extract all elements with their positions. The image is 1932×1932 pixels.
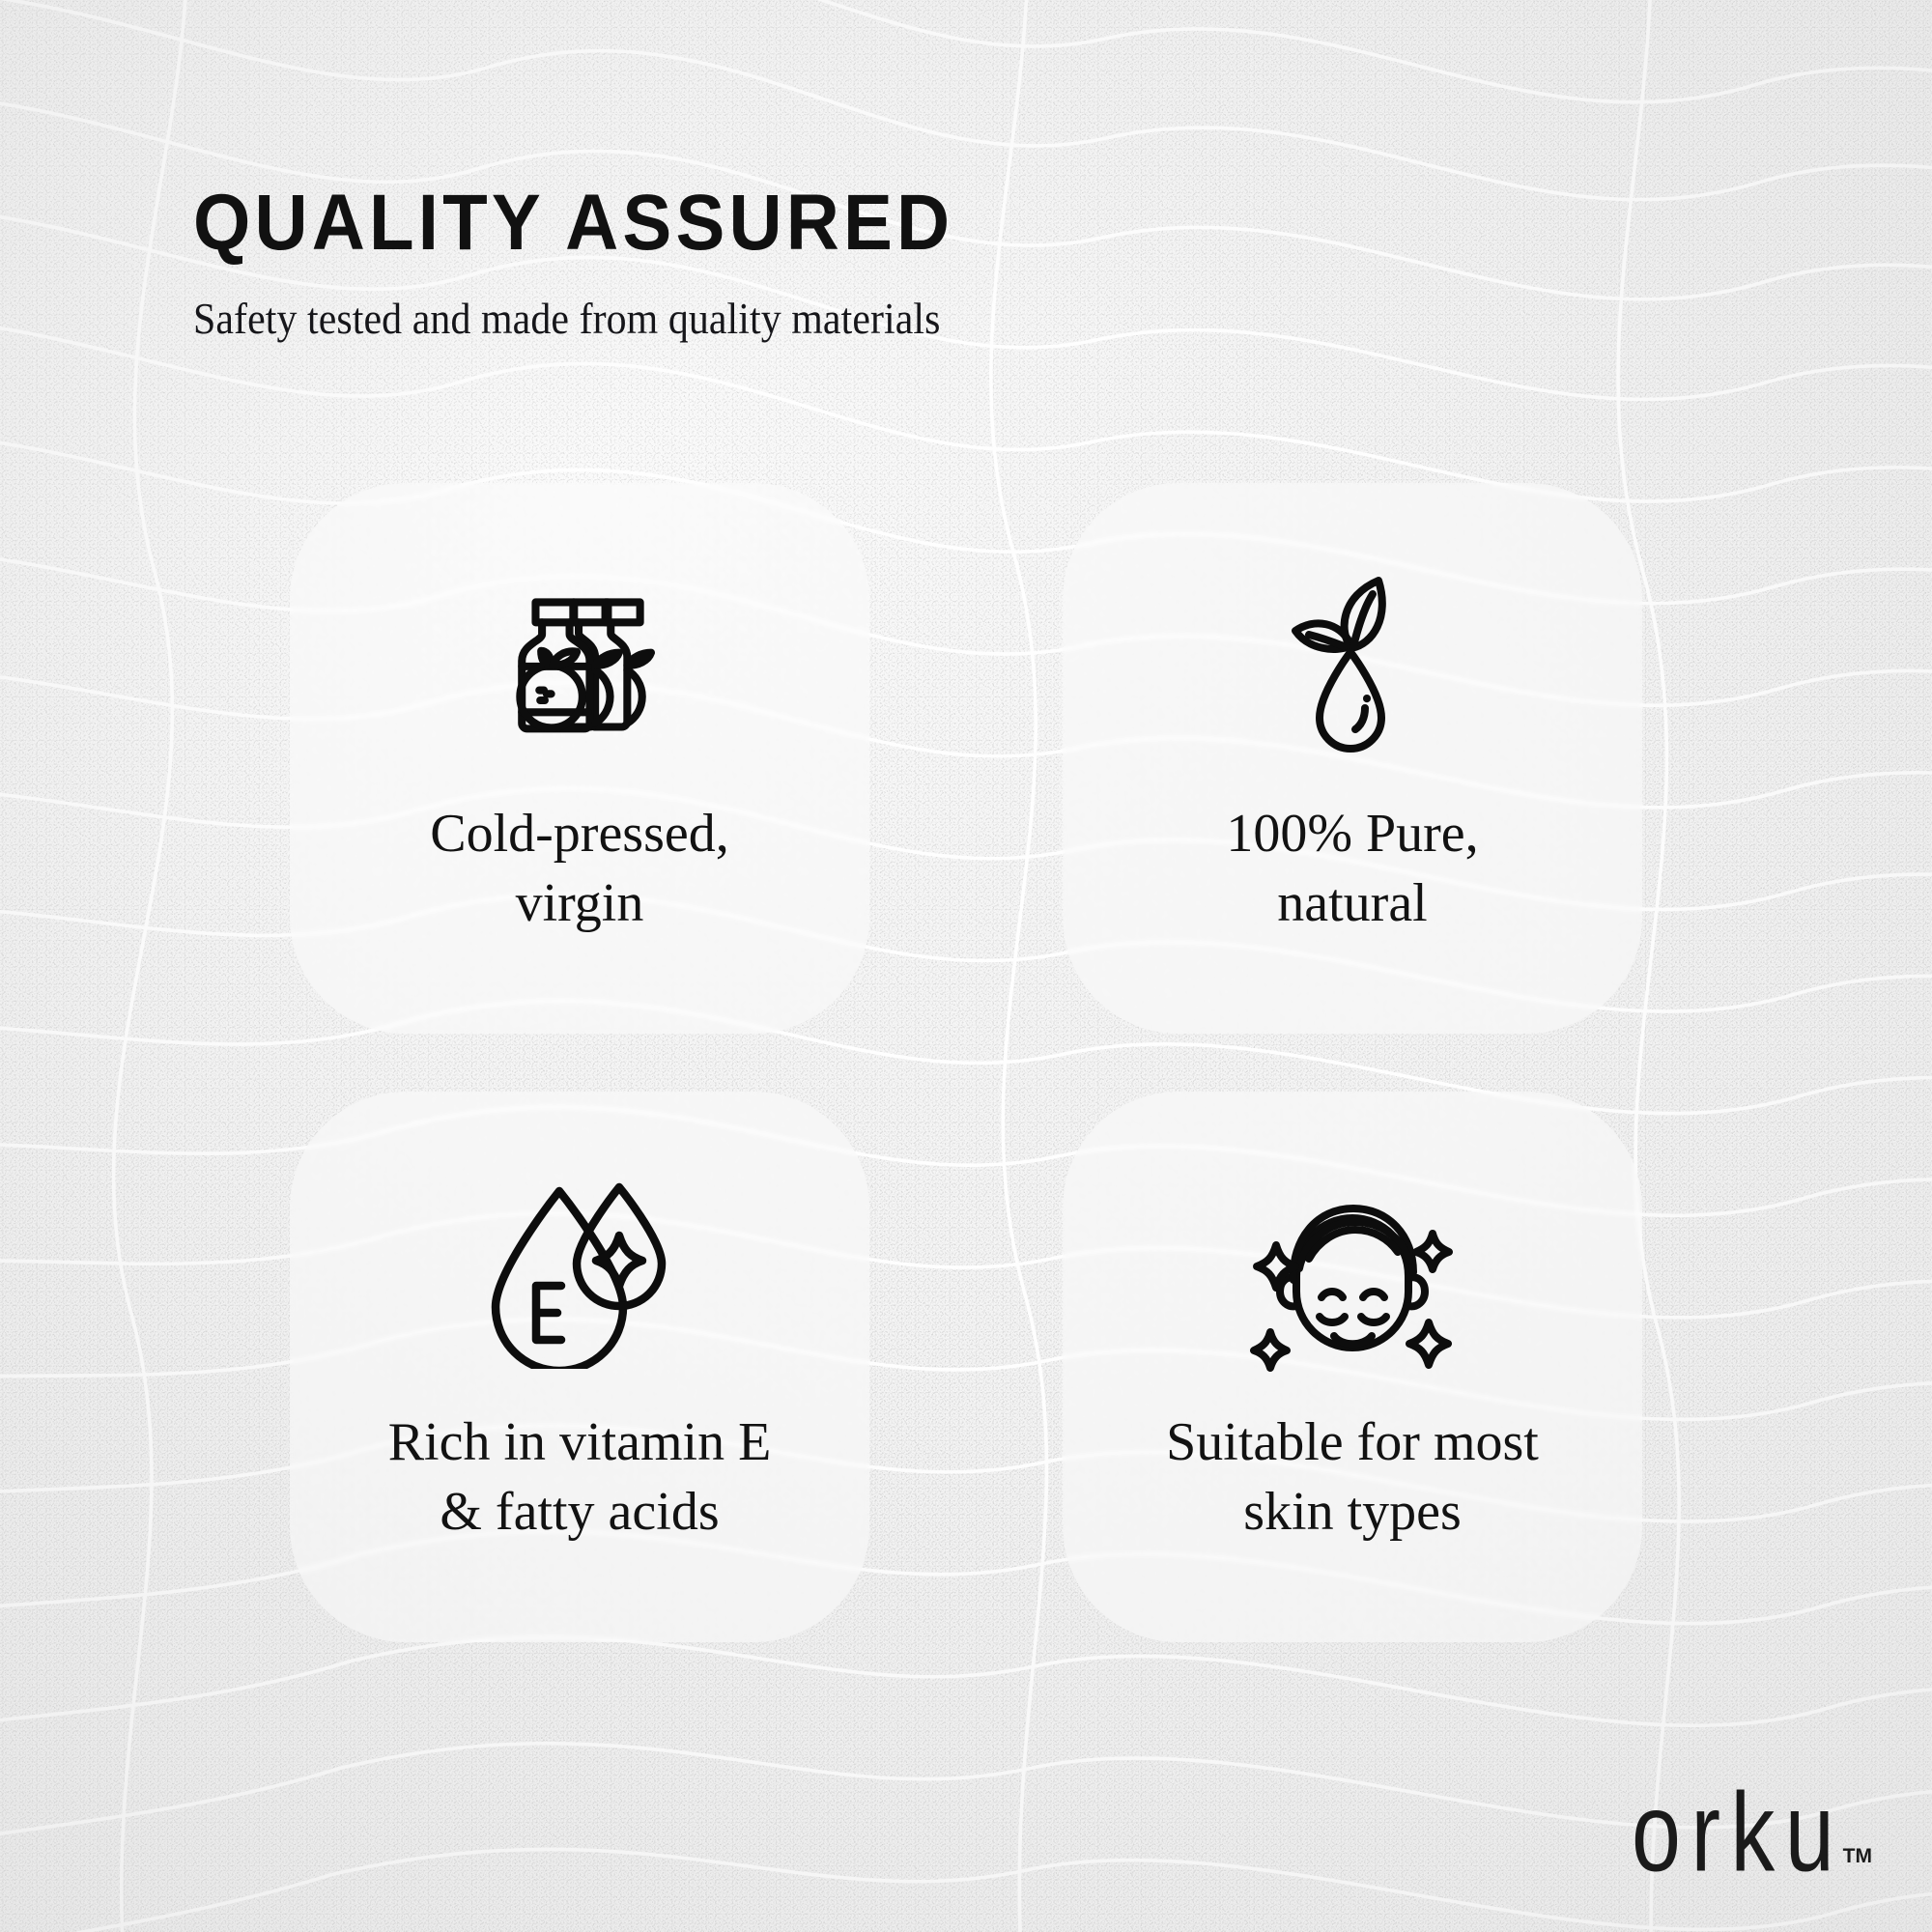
feature-label: Cold-pressed, virgin: [401, 800, 758, 938]
feature-card-pure-natural[interactable]: 100% Pure, natural: [1063, 483, 1642, 1034]
feature-card-skin-types[interactable]: Suitable for most skin types: [1063, 1092, 1642, 1642]
feature-card-vitamin-e[interactable]: Rich in vitamin E & fatty acids: [290, 1092, 869, 1642]
page-subtitle: Safety tested and made from quality mate…: [193, 296, 1451, 344]
promo-graphic: QUALITY ASSURED Safety tested and made f…: [0, 0, 1932, 1932]
logo-wordmark: orku: [1632, 1785, 1844, 1882]
feature-label: Rich in vitamin E & fatty acids: [359, 1408, 801, 1547]
jars-icon: [454, 553, 705, 775]
vitamin-e-droplet-icon: [454, 1161, 705, 1383]
feature-grid: Cold-pressed, virgin 100% Pure, natu: [290, 483, 1642, 1642]
leaf-droplet-icon: [1227, 553, 1478, 775]
feature-label: 100% Pure, natural: [1197, 800, 1507, 938]
page-title: QUALITY ASSURED: [193, 184, 1451, 263]
face-skincare-icon: [1227, 1161, 1478, 1383]
logo-trademark: TM: [1843, 1845, 1872, 1868]
header-block: QUALITY ASSURED Safety tested and made f…: [193, 184, 1546, 344]
brand-logo: orku TM: [1603, 1796, 1872, 1882]
feature-label: Suitable for most skin types: [1137, 1408, 1568, 1547]
feature-card-cold-pressed[interactable]: Cold-pressed, virgin: [290, 483, 869, 1034]
